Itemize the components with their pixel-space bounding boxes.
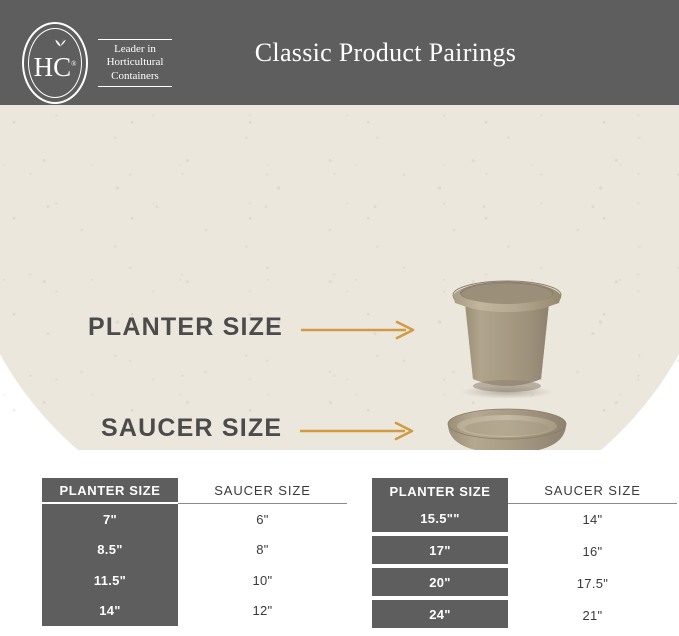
cell-saucer-size: 12"	[178, 596, 347, 627]
cell-saucer-size: 6"	[178, 504, 347, 535]
column-header-saucer: SAUCER SIZE	[508, 478, 677, 504]
cell-planter-size: 14"	[42, 596, 178, 627]
table-row: 24" 21"	[372, 600, 677, 631]
cell-planter-size: 15.5""	[372, 504, 508, 532]
saucer-callout: SAUCER SIZE	[101, 414, 418, 443]
column-header-planter: PLANTER SIZE	[42, 478, 178, 504]
table-header-row: PLANTER SIZE SAUCER SIZE	[42, 478, 347, 504]
arrow-right-icon	[301, 320, 419, 340]
cell-planter-size: 20"	[372, 568, 508, 596]
cell-planter-size: 11.5"	[42, 565, 178, 596]
planter-size-label: PLANTER SIZE	[88, 313, 283, 342]
size-tables: PLANTER SIZE SAUCER SIZE 7" 6" 8.5" 8" 1…	[0, 478, 679, 636]
cell-saucer-size: 21"	[508, 600, 677, 631]
table-row: 7" 6"	[42, 504, 347, 535]
tagline-line-3: Containers	[107, 70, 164, 84]
cell-planter-size: 7"	[42, 504, 178, 535]
table-header-row: PLANTER SIZE SAUCER SIZE	[372, 478, 677, 504]
table-row: 20" 17.5"	[372, 568, 677, 599]
table-row: 14" 12"	[42, 596, 347, 627]
cell-planter-size: 17"	[372, 536, 508, 564]
planter-callout: PLANTER SIZE	[88, 313, 419, 342]
planter-illustration	[441, 273, 573, 398]
table-row: 8.5" 8"	[42, 535, 347, 566]
cell-saucer-size: 8"	[178, 535, 347, 566]
arrow-right-icon	[300, 421, 418, 441]
saucer-size-label: SAUCER SIZE	[101, 414, 282, 443]
table-row: 15.5"" 14"	[372, 504, 677, 535]
table-body: 7" 6" 8.5" 8" 11.5" 10" 14" 12"	[42, 504, 347, 626]
tagline-rule-bottom	[98, 86, 172, 87]
column-header-planter: PLANTER SIZE	[372, 478, 508, 504]
size-table-small: PLANTER SIZE SAUCER SIZE 7" 6" 8.5" 8" 1…	[42, 478, 347, 636]
column-header-saucer: SAUCER SIZE	[178, 478, 347, 504]
cell-planter-size: 24"	[372, 600, 508, 628]
hero-panel: PLANTER SIZE SAUCER SIZE	[0, 105, 679, 450]
page-title: Classic Product Pairings	[0, 38, 679, 68]
cell-saucer-size: 14"	[508, 504, 677, 535]
table-row: 11.5" 10"	[42, 565, 347, 596]
page-header: HC® Leader in Horticultural Containers C…	[0, 0, 679, 105]
cell-saucer-size: 10"	[178, 565, 347, 596]
table-body: 15.5"" 14" 17" 16" 20" 17.5" 24" 21"	[372, 504, 677, 631]
cell-saucer-size: 17.5"	[508, 568, 677, 599]
saucer-illustration	[440, 406, 574, 450]
table-row: 17" 16"	[372, 536, 677, 567]
size-table-large: PLANTER SIZE SAUCER SIZE 15.5"" 14" 17" …	[372, 478, 677, 636]
cell-saucer-size: 16"	[508, 536, 677, 567]
panel-texture	[0, 105, 679, 450]
cell-planter-size: 8.5"	[42, 535, 178, 566]
